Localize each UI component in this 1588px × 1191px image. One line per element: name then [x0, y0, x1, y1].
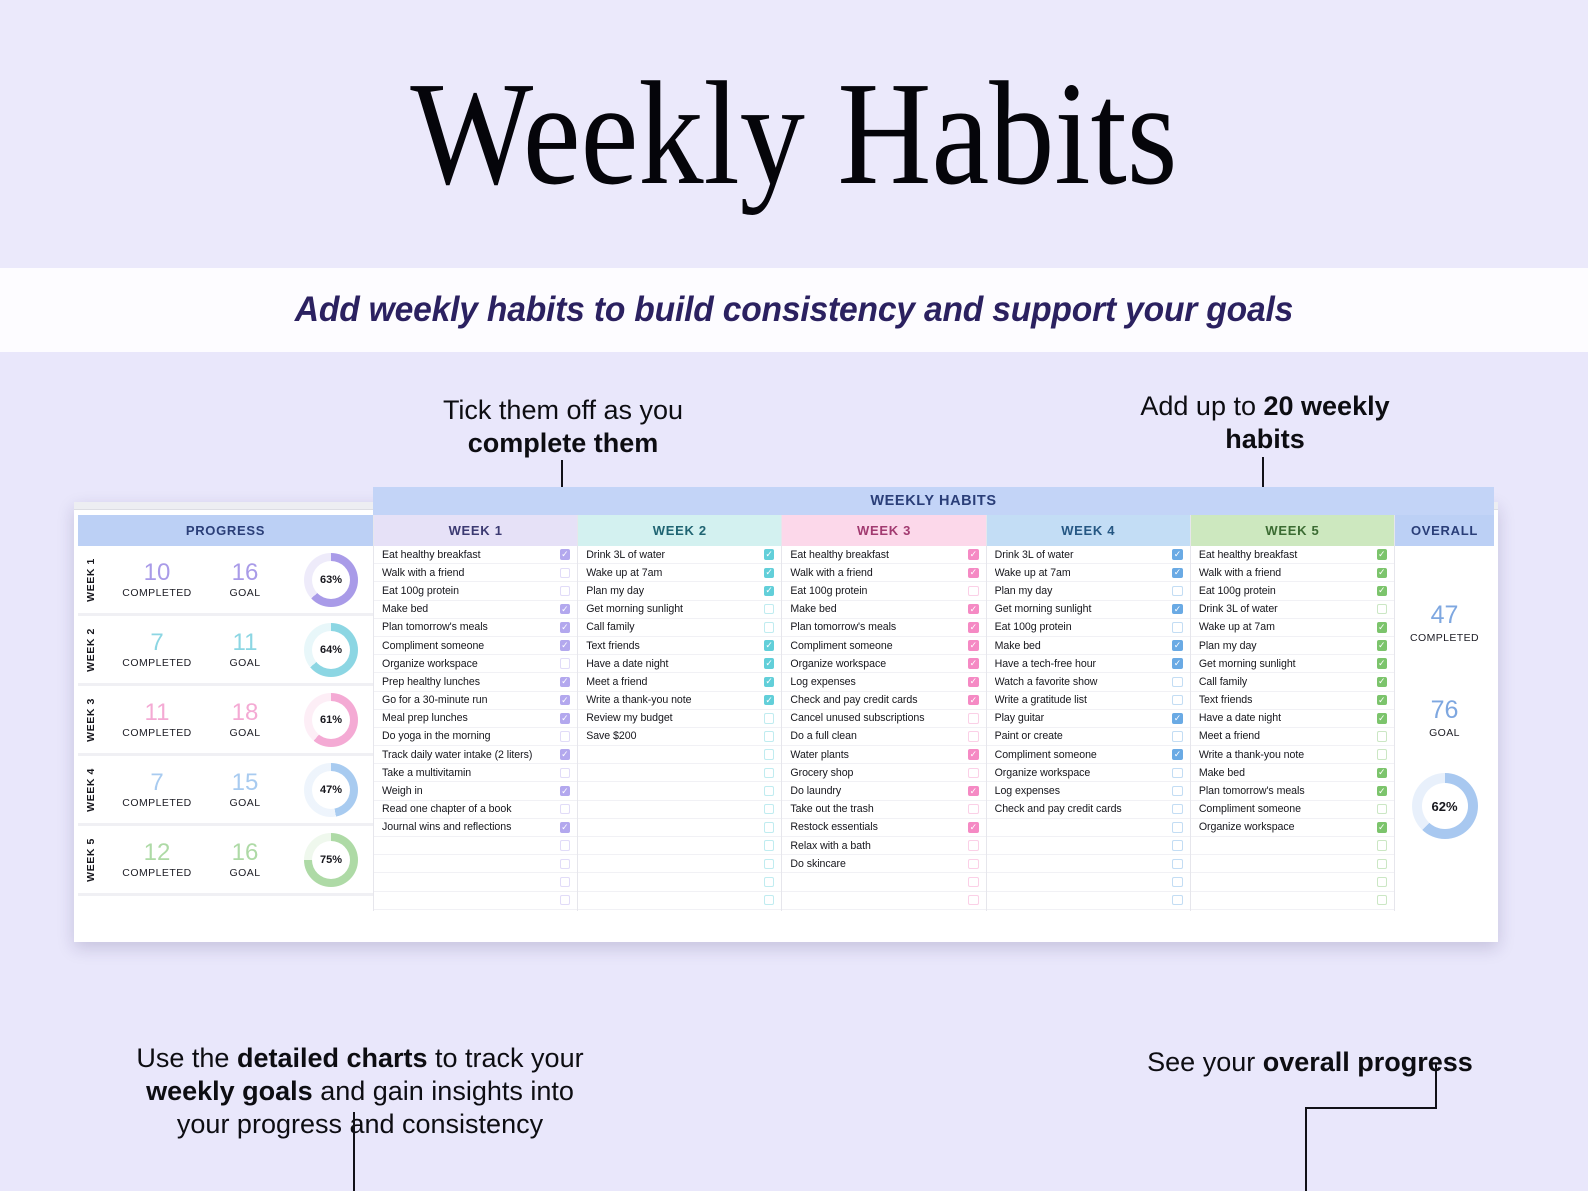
habit-row[interactable]: Log expenses✓ [782, 673, 985, 691]
week-completed-value: 11 [113, 700, 201, 725]
habit-name-label: Go for a 30-minute run [382, 694, 560, 706]
overall-column-header: OVERALL [1395, 515, 1494, 546]
habit-row[interactable]: Read one chapter of a book [374, 801, 577, 819]
week-completed-label: COMPLETED [113, 657, 201, 669]
habit-checkbox[interactable] [1172, 677, 1183, 688]
subtitle-band: Add weekly habits to build consistency a… [0, 268, 1588, 352]
habit-checkbox[interactable]: ✓ [560, 677, 571, 688]
habit-checkbox[interactable] [1377, 604, 1388, 615]
habit-row[interactable]: Paint or create [987, 728, 1190, 746]
habit-row[interactable] [782, 892, 985, 910]
habit-checkbox[interactable] [1172, 804, 1183, 815]
leader-line-overall-vertical [1305, 1107, 1307, 1191]
habit-checkbox[interactable]: ✓ [560, 749, 571, 760]
habit-row[interactable]: Make bed✓ [782, 601, 985, 619]
week-completed-stat: 11COMPLETED [113, 700, 201, 739]
habit-row[interactable]: Compliment someone✓ [374, 637, 577, 655]
habit-checkbox[interactable] [764, 731, 775, 742]
habit-row[interactable]: Plan my day✓ [1191, 637, 1394, 655]
habit-name-label: Compliment someone [1199, 803, 1377, 815]
week-progress-row: WEEK 47COMPLETED15GOAL47% [78, 756, 373, 826]
habit-row[interactable]: Have a date night✓ [578, 655, 781, 673]
habit-row[interactable]: Restock essentials✓ [782, 819, 985, 837]
habit-name-label: Meet a friend [586, 676, 764, 688]
habit-row[interactable]: Plan tomorrow's meals✓ [374, 619, 577, 637]
habit-name-label: Weigh in [382, 785, 560, 797]
habit-column-header: WEEK 2 [578, 515, 781, 546]
habit-name-label: Do laundry [790, 785, 968, 797]
habit-checkbox[interactable] [1172, 731, 1183, 742]
habit-checkbox[interactable] [764, 895, 775, 906]
habit-row[interactable]: Text friends✓ [1191, 692, 1394, 710]
habit-checkbox[interactable]: ✓ [1377, 586, 1388, 597]
habit-row[interactable] [1191, 855, 1394, 873]
habit-row[interactable]: Take out the trash [782, 801, 985, 819]
habit-row[interactable]: Make bed✓ [987, 637, 1190, 655]
habit-checkbox[interactable] [1172, 622, 1183, 633]
habit-checkbox[interactable]: ✓ [764, 568, 775, 579]
habit-row[interactable]: Compliment someone✓ [782, 637, 985, 655]
habit-checkbox[interactable] [1377, 895, 1388, 906]
habit-checkbox[interactable]: ✓ [1377, 622, 1388, 633]
habit-row[interactable]: Make bed✓ [374, 601, 577, 619]
habit-row[interactable]: Have a tech-free hour✓ [987, 655, 1190, 673]
habit-row[interactable]: Write a gratitude list [987, 692, 1190, 710]
week-completed-label: COMPLETED [113, 727, 201, 739]
habit-name-label: Organize workspace [995, 767, 1173, 779]
week-completed-label: COMPLETED [113, 797, 201, 809]
habit-row[interactable]: Get morning sunlight [578, 601, 781, 619]
habit-row[interactable] [578, 837, 781, 855]
habit-row[interactable] [578, 746, 781, 764]
overall-goal-label: GOAL [1429, 727, 1460, 739]
habit-name-label: Grocery shop [790, 767, 968, 779]
habit-row[interactable]: Relax with a bath [782, 837, 985, 855]
habit-checkbox[interactable] [1377, 859, 1388, 870]
habit-row[interactable]: Check and pay credit cards [987, 801, 1190, 819]
habit-checkbox[interactable]: ✓ [968, 677, 979, 688]
habit-column-week-2: WEEK 2Drink 3L of water✓Wake up at 7am✓P… [577, 515, 781, 911]
habit-row[interactable]: Do a full clean [782, 728, 985, 746]
habit-name-label: Text friends [1199, 694, 1377, 706]
week-rows-container: WEEK 110COMPLETED16GOAL63%WEEK 27COMPLET… [78, 546, 373, 896]
habit-row[interactable]: Cancel unused subscriptions [782, 710, 985, 728]
habit-row[interactable]: Walk with a friend✓ [1191, 564, 1394, 582]
habit-columns-container: WEEK 1Eat healthy breakfast✓Walk with a … [373, 515, 1394, 911]
habit-name-label: Eat 100g protein [995, 621, 1173, 633]
habit-checkbox[interactable] [1377, 731, 1388, 742]
habit-checkbox[interactable]: ✓ [968, 786, 979, 797]
habit-row[interactable]: Plan my day [987, 582, 1190, 600]
week-goal-value: 15 [201, 770, 289, 795]
habit-checkbox[interactable]: ✓ [1172, 568, 1183, 579]
week-completed-value: 10 [113, 560, 201, 585]
habit-row[interactable]: Prep healthy lunches✓ [374, 673, 577, 691]
habit-checkbox[interactable] [560, 768, 571, 779]
habit-checkbox[interactable]: ✓ [1172, 549, 1183, 560]
habit-name-label: Play guitar [995, 712, 1173, 724]
week-progress-donut: 47% [304, 763, 358, 817]
habit-checkbox[interactable]: ✓ [560, 695, 571, 706]
habit-row[interactable] [578, 764, 781, 782]
habit-row[interactable] [578, 782, 781, 800]
habit-checkbox[interactable]: ✓ [968, 568, 979, 579]
habit-row[interactable]: Eat 100g protein [987, 619, 1190, 637]
habit-row[interactable] [374, 837, 577, 855]
habit-name-label: Do a full clean [790, 730, 968, 742]
habit-row[interactable]: Compliment someone✓ [987, 746, 1190, 764]
week-progress-donut: 75% [304, 833, 358, 887]
habit-checkbox[interactable]: ✓ [968, 822, 979, 833]
habit-name-label: Text friends [586, 640, 764, 652]
habit-checkbox[interactable]: ✓ [1377, 568, 1388, 579]
habit-checkbox[interactable] [1172, 768, 1183, 779]
habit-row[interactable]: Write a thank-you note✓ [578, 692, 781, 710]
habit-row[interactable] [987, 892, 1190, 910]
habit-row[interactable]: Eat 100g protein✓ [1191, 582, 1394, 600]
leader-line-overall-up [1435, 1064, 1437, 1109]
habit-row[interactable] [782, 873, 985, 891]
habit-checkbox[interactable]: ✓ [1172, 713, 1183, 724]
habit-row[interactable] [578, 801, 781, 819]
week-donut-cell: 61% [289, 693, 373, 747]
habit-checkbox[interactable]: ✓ [764, 640, 775, 651]
habit-checkbox[interactable] [560, 731, 571, 742]
habit-checkbox[interactable] [764, 804, 775, 815]
habit-checkbox[interactable]: ✓ [1172, 640, 1183, 651]
habit-row[interactable]: Walk with a friend [374, 564, 577, 582]
habit-checkbox[interactable] [968, 877, 979, 888]
habit-row[interactable]: Drink 3L of water✓ [578, 546, 781, 564]
habit-name-label: Wake up at 7am [586, 567, 764, 579]
habit-checkbox[interactable] [764, 786, 775, 797]
habit-row[interactable]: Review my budget [578, 710, 781, 728]
habit-row[interactable]: Get morning sunlight✓ [987, 601, 1190, 619]
habit-checkbox[interactable] [764, 877, 775, 888]
habit-row[interactable]: Meet a friend [1191, 728, 1394, 746]
habit-name-label: Compliment someone [790, 640, 968, 652]
habit-name-label: Read one chapter of a book [382, 803, 560, 815]
habit-checkbox[interactable] [968, 804, 979, 815]
habit-row[interactable]: Meet a friend✓ [578, 673, 781, 691]
habit-row[interactable]: Organize workspace [374, 655, 577, 673]
habit-checkbox[interactable] [1172, 586, 1183, 597]
habit-checkbox[interactable] [764, 840, 775, 851]
habit-checkbox[interactable]: ✓ [968, 749, 979, 760]
habit-checkbox[interactable] [764, 749, 775, 760]
habit-row[interactable]: Eat 100g protein [782, 582, 985, 600]
habit-row[interactable] [1191, 892, 1394, 910]
habit-row[interactable] [987, 873, 1190, 891]
habit-row[interactable]: Plan tomorrow's meals✓ [1191, 782, 1394, 800]
week-completed-stat: 12COMPLETED [113, 840, 201, 879]
habit-row[interactable]: Drink 3L of water✓ [987, 546, 1190, 564]
habit-checkbox[interactable]: ✓ [1377, 822, 1388, 833]
habit-checkbox[interactable]: ✓ [968, 640, 979, 651]
habit-checkbox[interactable] [560, 877, 571, 888]
week-row-label: WEEK 1 [85, 558, 113, 602]
leader-line-overall-horizontal [1305, 1107, 1437, 1109]
sheet-grid: PROGRESS WEEK 110COMPLETED16GOAL63%WEEK … [78, 515, 1494, 911]
habit-checkbox[interactable] [1172, 695, 1183, 706]
habit-name-label: Make bed [382, 603, 560, 615]
spreadsheet-body: WEEKLY HABITS PROGRESS WEEK 110COMPLETED… [74, 510, 1498, 942]
habit-checkbox[interactable]: ✓ [968, 622, 979, 633]
week-donut-cell: 64% [289, 623, 373, 677]
habit-row[interactable]: Call family [578, 619, 781, 637]
habit-row[interactable]: Water plants✓ [782, 746, 985, 764]
habit-checkbox[interactable] [764, 859, 775, 870]
overall-progress-donut: 62% [1412, 773, 1478, 839]
sheet-banner-title: WEEKLY HABITS [373, 487, 1494, 515]
habit-checkbox[interactable] [560, 586, 571, 597]
habit-column-week-4: WEEK 4Drink 3L of water✓Wake up at 7am✓P… [986, 515, 1190, 911]
habit-checkbox[interactable]: ✓ [560, 822, 571, 833]
habit-checkbox[interactable]: ✓ [764, 658, 775, 669]
habit-name-label: Walk with a friend [382, 567, 560, 579]
habit-checkbox[interactable] [560, 895, 571, 906]
habit-name-label: Log expenses [790, 676, 968, 688]
week-completed-stat: 10COMPLETED [113, 560, 201, 599]
callout-charts-l1a: Use the [136, 1043, 237, 1073]
overall-completed-label: COMPLETED [1410, 632, 1479, 644]
habit-checkbox[interactable]: ✓ [1377, 549, 1388, 560]
week-progress-donut: 63% [304, 553, 358, 607]
habit-checkbox[interactable]: ✓ [1377, 786, 1388, 797]
habit-column-header: WEEK 1 [374, 515, 577, 546]
habit-checkbox[interactable]: ✓ [1377, 658, 1388, 669]
habit-row[interactable] [578, 819, 781, 837]
habit-row[interactable] [987, 819, 1190, 837]
habit-row[interactable]: Write a thank-you note [1191, 746, 1394, 764]
habit-name-label: Call family [586, 621, 764, 633]
habit-name-label: Write a thank-you note [586, 694, 764, 706]
callout-charts-l3: your progress and consistency [80, 1108, 640, 1141]
habit-row[interactable]: Do skincare [782, 855, 985, 873]
habit-row[interactable]: Check and pay credit cards✓ [782, 692, 985, 710]
habit-row[interactable]: Wake up at 7am✓ [987, 564, 1190, 582]
habit-name-label: Have a date night [1199, 712, 1377, 724]
habit-checkbox[interactable]: ✓ [764, 586, 775, 597]
habit-row[interactable]: Eat healthy breakfast✓ [1191, 546, 1394, 564]
week-goal-label: GOAL [201, 657, 289, 669]
habit-checkbox[interactable]: ✓ [764, 677, 775, 688]
habit-name-label: Organize workspace [790, 658, 968, 670]
habit-checkbox[interactable] [1377, 749, 1388, 760]
callout-charts-l1c: to track your [428, 1043, 584, 1073]
habit-row[interactable] [1191, 837, 1394, 855]
habit-column-week-1: WEEK 1Eat healthy breakfast✓Walk with a … [373, 515, 577, 911]
habit-checkbox[interactable] [968, 731, 979, 742]
habit-checkbox[interactable]: ✓ [560, 604, 571, 615]
habit-checkbox[interactable]: ✓ [560, 640, 571, 651]
habit-checkbox[interactable]: ✓ [968, 695, 979, 706]
habit-row[interactable] [987, 837, 1190, 855]
habit-checkbox[interactable]: ✓ [1377, 695, 1388, 706]
habit-checkbox[interactable] [1377, 804, 1388, 815]
habit-checkbox[interactable]: ✓ [560, 713, 571, 724]
habit-row[interactable]: Meal prep lunches✓ [374, 710, 577, 728]
habit-checkbox[interactable] [560, 840, 571, 851]
habit-checkbox[interactable]: ✓ [1377, 713, 1388, 724]
habit-checkbox[interactable]: ✓ [968, 658, 979, 669]
habit-checkbox[interactable] [560, 568, 571, 579]
week-row-label: WEEK 4 [85, 768, 113, 812]
callout-add-line2: habits [1225, 424, 1305, 454]
habit-row[interactable]: Do laundry✓ [782, 782, 985, 800]
progress-section: PROGRESS WEEK 110COMPLETED16GOAL63%WEEK … [78, 515, 373, 911]
habit-row[interactable]: Get morning sunlight✓ [1191, 655, 1394, 673]
week-percent-label: 63% [320, 574, 342, 586]
habit-checkbox[interactable] [1172, 859, 1183, 870]
habit-checkbox[interactable]: ✓ [764, 695, 775, 706]
habit-row[interactable]: Have a date night✓ [1191, 710, 1394, 728]
habit-row[interactable] [578, 873, 781, 891]
habit-checkbox[interactable]: ✓ [764, 549, 775, 560]
habit-checkbox[interactable] [968, 840, 979, 851]
habit-name-label: Write a thank-you note [1199, 749, 1377, 761]
habit-row[interactable]: Call family✓ [1191, 673, 1394, 691]
habit-row[interactable]: Track daily water intake (2 liters)✓ [374, 746, 577, 764]
habit-checkbox[interactable] [968, 859, 979, 870]
habit-row[interactable]: Take a multivitamin [374, 764, 577, 782]
week-donut-cell: 63% [289, 553, 373, 607]
week-goal-label: GOAL [201, 587, 289, 599]
callout-overall-plain: See your [1147, 1047, 1263, 1077]
habit-checkbox[interactable] [764, 713, 775, 724]
habit-name-label: Eat 100g protein [1199, 585, 1377, 597]
habit-row[interactable]: Wake up at 7am✓ [1191, 619, 1394, 637]
habit-name-label: Relax with a bath [790, 840, 968, 852]
habit-checkbox[interactable]: ✓ [1172, 749, 1183, 760]
habit-checkbox[interactable]: ✓ [560, 549, 571, 560]
habit-row[interactable]: Eat healthy breakfast✓ [374, 546, 577, 564]
week-progress-row: WEEK 512COMPLETED16GOAL75% [78, 826, 373, 896]
habit-checkbox[interactable] [764, 604, 775, 615]
habit-checkbox[interactable]: ✓ [1172, 604, 1183, 615]
habit-row[interactable]: Weigh in✓ [374, 782, 577, 800]
week-goal-stat: 16GOAL [201, 840, 289, 879]
habit-row[interactable]: Organize workspace✓ [1191, 819, 1394, 837]
callout-overall-bold: overall progress [1263, 1047, 1473, 1077]
habit-row[interactable] [987, 855, 1190, 873]
habit-row[interactable]: Journal wins and reflections✓ [374, 819, 577, 837]
habit-row[interactable]: Eat 100g protein [374, 582, 577, 600]
habit-row[interactable] [578, 892, 781, 910]
habit-row[interactable]: Text friends✓ [578, 637, 781, 655]
habit-checkbox[interactable] [764, 622, 775, 633]
habit-checkbox[interactable] [764, 768, 775, 779]
habit-row[interactable] [374, 855, 577, 873]
habit-column-header: WEEK 5 [1191, 515, 1394, 546]
habit-checkbox[interactable] [1377, 840, 1388, 851]
habit-name-label: Compliment someone [995, 749, 1173, 761]
habit-checkbox[interactable] [1172, 786, 1183, 797]
callout-tick-off-line2: complete them [468, 428, 659, 458]
habit-name-label: Walk with a friend [1199, 567, 1377, 579]
habit-row[interactable]: Watch a favorite show [987, 673, 1190, 691]
spreadsheet-window[interactable]: WEEKLY HABITS PROGRESS WEEK 110COMPLETED… [74, 502, 1498, 942]
habit-name-label: Check and pay credit cards [790, 694, 968, 706]
week-row-label: WEEK 2 [85, 628, 113, 672]
habit-name-label: Eat healthy breakfast [790, 549, 968, 561]
habit-row[interactable]: Plan tomorrow's meals✓ [782, 619, 985, 637]
habit-checkbox[interactable] [968, 768, 979, 779]
habit-checkbox[interactable] [1377, 877, 1388, 888]
habit-checkbox[interactable]: ✓ [1172, 658, 1183, 669]
habit-row[interactable]: Make bed✓ [1191, 764, 1394, 782]
habit-checkbox[interactable]: ✓ [1377, 640, 1388, 651]
habit-row[interactable]: Eat healthy breakfast✓ [782, 546, 985, 564]
habit-name-label: Meal prep lunches [382, 712, 560, 724]
habit-row[interactable] [578, 855, 781, 873]
habit-row[interactable]: Log expenses [987, 782, 1190, 800]
habit-checkbox[interactable] [560, 804, 571, 815]
habit-row[interactable]: Compliment someone [1191, 801, 1394, 819]
habit-checkbox[interactable] [1172, 895, 1183, 906]
week-percent-label: 47% [320, 784, 342, 796]
week-goal-label: GOAL [201, 797, 289, 809]
overall-section: OVERALL 47 COMPLETED 76 GOAL 62% [1394, 515, 1494, 911]
week-percent-label: 75% [320, 854, 342, 866]
week-goal-value: 18 [201, 700, 289, 725]
habit-row[interactable]: Organize workspace✓ [782, 655, 985, 673]
habit-row[interactable] [374, 892, 577, 910]
habit-name-label: Drink 3L of water [586, 549, 764, 561]
habit-checkbox[interactable] [1172, 822, 1183, 833]
week-progress-row: WEEK 110COMPLETED16GOAL63% [78, 546, 373, 616]
week-goal-value: 16 [201, 840, 289, 865]
habit-checkbox[interactable]: ✓ [1377, 677, 1388, 688]
habit-checkbox[interactable] [968, 713, 979, 724]
habit-name-label: Log expenses [995, 785, 1173, 797]
habit-checkbox[interactable] [560, 658, 571, 669]
habit-checkbox[interactable]: ✓ [1377, 768, 1388, 779]
habit-row[interactable]: Plan my day✓ [578, 582, 781, 600]
week-progress-donut: 61% [304, 693, 358, 747]
habit-checkbox[interactable] [968, 895, 979, 906]
habit-checkbox[interactable]: ✓ [968, 549, 979, 560]
habit-row[interactable]: Organize workspace [987, 764, 1190, 782]
habit-row[interactable]: Go for a 30-minute run✓ [374, 692, 577, 710]
habit-row[interactable]: Walk with a friend✓ [782, 564, 985, 582]
habit-name-label: Do skincare [790, 858, 968, 870]
habit-checkbox[interactable]: ✓ [968, 604, 979, 615]
habit-checkbox[interactable]: ✓ [560, 786, 571, 797]
habit-column-week-3: WEEK 3Eat healthy breakfast✓Walk with a … [781, 515, 985, 911]
habit-checkbox[interactable] [1172, 877, 1183, 888]
habit-name-label: Check and pay credit cards [995, 803, 1173, 815]
callout-detailed-charts: Use the detailed charts to track your we… [80, 1042, 640, 1142]
habit-row[interactable] [1191, 873, 1394, 891]
habit-name-label: Eat healthy breakfast [382, 549, 560, 561]
habit-checkbox[interactable] [968, 586, 979, 597]
habit-row[interactable]: Drink 3L of water [1191, 601, 1394, 619]
habit-row[interactable] [374, 873, 577, 891]
habit-row[interactable]: Play guitar✓ [987, 710, 1190, 728]
habit-checkbox[interactable] [764, 822, 775, 833]
habit-checkbox[interactable] [560, 859, 571, 870]
habit-row[interactable]: Wake up at 7am✓ [578, 564, 781, 582]
week-completed-label: COMPLETED [113, 587, 201, 599]
habit-row[interactable]: Grocery shop [782, 764, 985, 782]
habit-row[interactable]: Do yoga in the morning [374, 728, 577, 746]
habit-checkbox[interactable] [1172, 840, 1183, 851]
habit-checkbox[interactable]: ✓ [560, 622, 571, 633]
progress-column-header: PROGRESS [78, 515, 373, 546]
habit-row[interactable]: Save $200 [578, 728, 781, 746]
week-goal-label: GOAL [201, 727, 289, 739]
